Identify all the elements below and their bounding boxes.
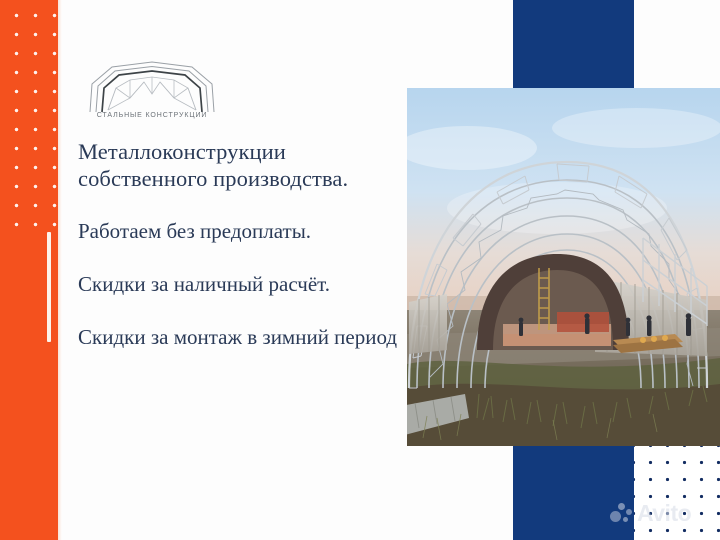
copy-line-4: Скидки за монтаж в зимний период bbox=[78, 324, 408, 351]
headline: Металлоконструкции собственного производ… bbox=[78, 138, 408, 192]
orange-band bbox=[0, 0, 58, 540]
construction-photo-illustration bbox=[407, 88, 720, 446]
advert-copy: Металлоконструкции собственного производ… bbox=[78, 138, 408, 351]
blue-block-bottom-right bbox=[513, 446, 634, 540]
advert-canvas: СТАЛЬНЫЕ КОНСТРУКЦИИ Металлоконструкции … bbox=[0, 0, 720, 540]
steel-arch-truss-icon bbox=[82, 58, 222, 114]
brand-logo: СТАЛЬНЫЕ КОНСТРУКЦИИ bbox=[82, 58, 222, 130]
copy-line-3: Скидки за наличный расчёт. bbox=[78, 271, 408, 298]
copy-line-2: Работаем без предоплаты. bbox=[78, 218, 408, 245]
blue-square-top-right bbox=[513, 0, 634, 88]
page-left-edge bbox=[58, 0, 62, 540]
orange-dot-pattern bbox=[0, 0, 58, 240]
navy-dot-pattern bbox=[634, 446, 720, 540]
brand-wordmark: СТАЛЬНЫЕ КОНСТРУКЦИИ bbox=[82, 112, 222, 119]
construction-photo bbox=[407, 88, 720, 446]
vertical-accent-line bbox=[47, 232, 51, 342]
